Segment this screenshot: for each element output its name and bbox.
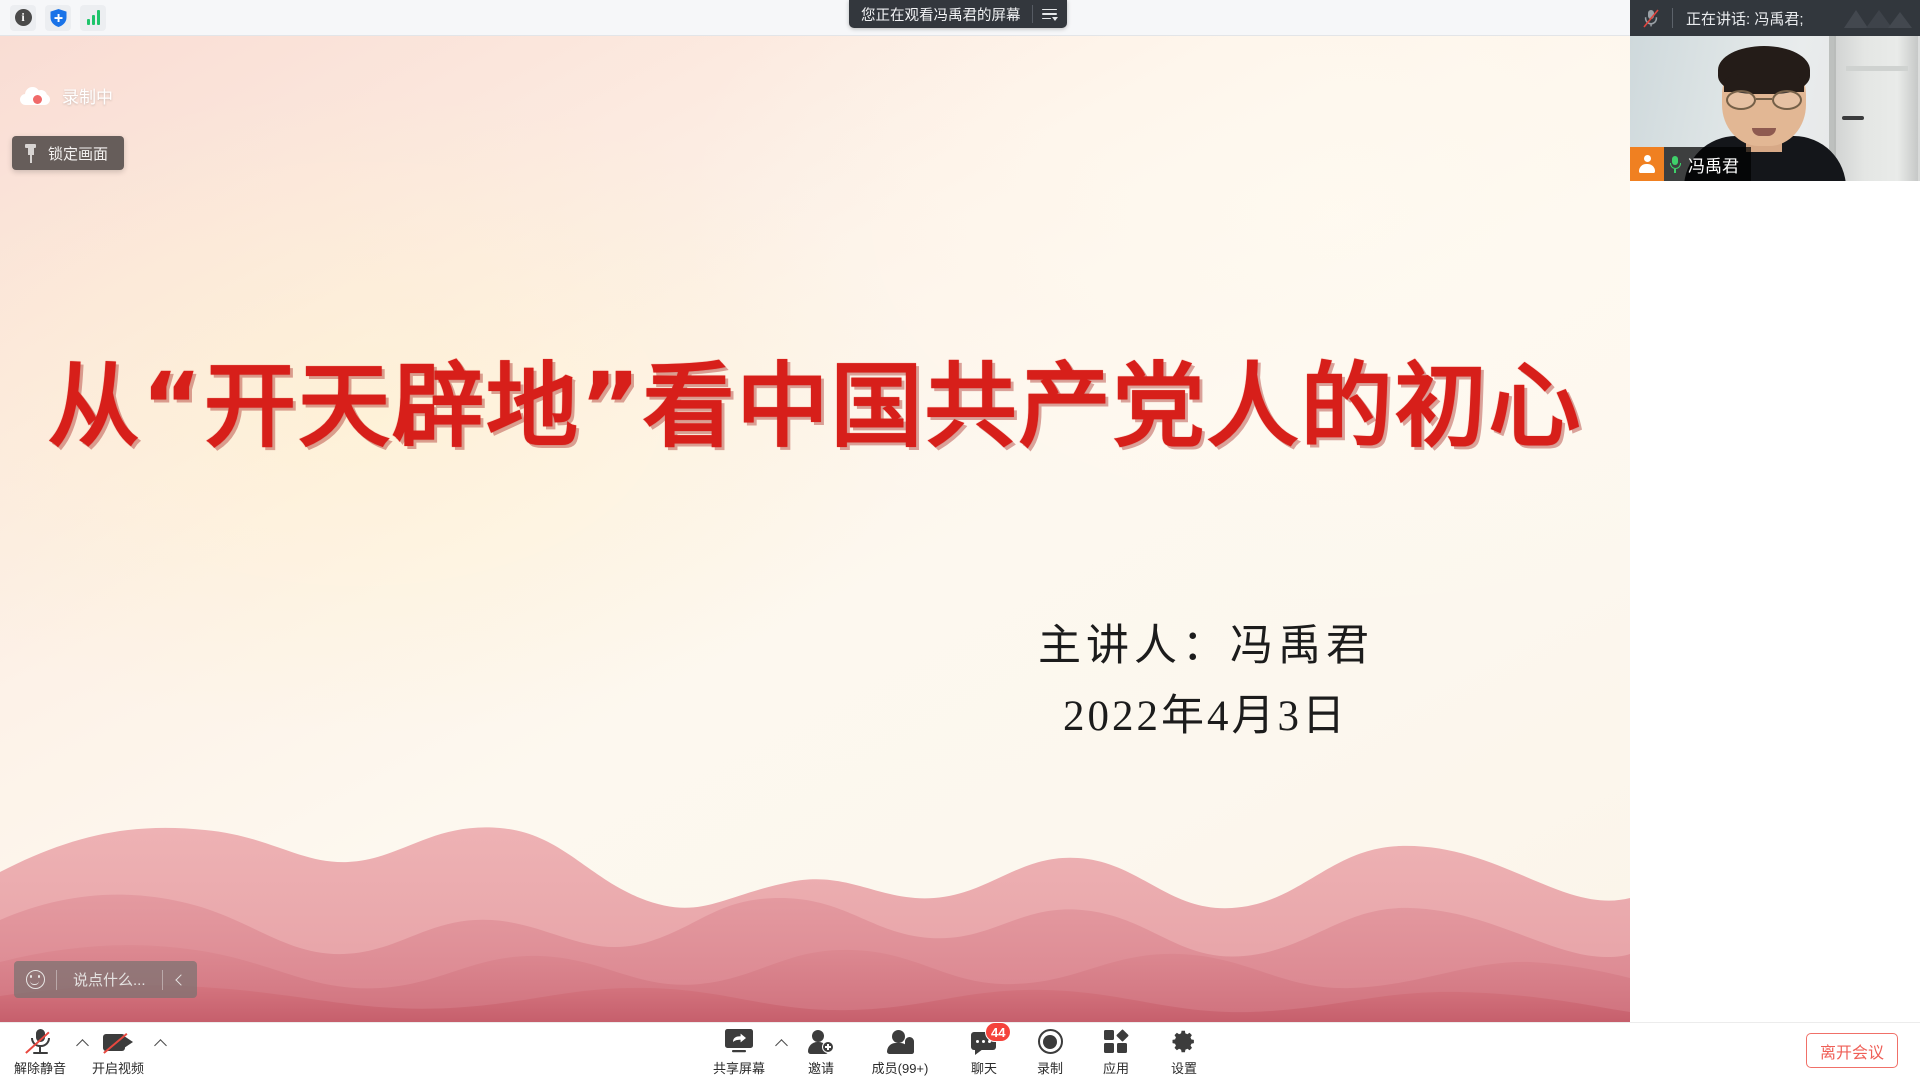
members-button[interactable]: 成员(99+) (855, 1028, 945, 1077)
right-panel-empty-area (1630, 181, 1920, 1022)
members-label: 成员(99+) (872, 1058, 929, 1077)
door (1834, 36, 1918, 181)
apps-grid-icon (1104, 1028, 1128, 1054)
lock-screen-button[interactable]: 锁定画面 (12, 136, 124, 170)
start-video-button[interactable]: 开启视频 (82, 1028, 154, 1077)
slide-date: 2022年4月3日 (1063, 681, 1348, 743)
people-icon (887, 1028, 913, 1054)
person-add-icon (808, 1028, 834, 1054)
settings-button[interactable]: 设置 (1148, 1028, 1220, 1077)
mic-muted-icon (1630, 9, 1672, 28)
glasses (1726, 90, 1802, 110)
active-speaker-text: 正在讲话: 冯禹君; (1686, 8, 1804, 29)
signal-bars-icon[interactable] (80, 5, 106, 31)
cloud-recording-icon (20, 87, 50, 105)
apps-label: 应用 (1103, 1058, 1129, 1077)
speaker-bar-divider (1672, 8, 1673, 28)
slide-background-art (0, 36, 1630, 1022)
shared-screen-stage[interactable]: 从“开天辟地”看中国共产党人的初心 主讲人：冯禹君 2022年4月3日 录制中 … (0, 36, 1630, 1022)
emoji-icon[interactable] (14, 961, 56, 998)
video-options-caret-icon[interactable] (154, 1039, 167, 1052)
recording-label: 录制中 (62, 83, 113, 108)
screen-share-banner-text: 您正在观看冯禹君的屏幕 (861, 4, 1021, 25)
pin-icon (24, 144, 37, 163)
record-circle-icon (1038, 1028, 1063, 1054)
share-screen-icon (725, 1028, 753, 1054)
share-screen-button[interactable]: 共享屏幕 (703, 1028, 775, 1077)
mic-active-icon (1664, 156, 1686, 173)
chat-label: 聊天 (971, 1058, 997, 1077)
person-avatar-icon (1630, 147, 1664, 181)
wave-decoration (1842, 6, 1912, 32)
apps-button[interactable]: 应用 (1080, 1028, 1152, 1077)
lock-screen-label: 锁定画面 (48, 143, 108, 164)
chat-unread-badge: 44 (985, 1022, 1011, 1042)
slide-presenter: 主讲人：冯禹君 (1038, 611, 1374, 673)
self-video-panel: 正在讲话: 冯禹君; (1630, 0, 1920, 1022)
share-screen-label: 共享屏幕 (713, 1058, 765, 1077)
leave-meeting-label: 离开会议 (1820, 1039, 1884, 1063)
record-label: 录制 (1037, 1058, 1063, 1077)
meeting-toolbar: 解除静音 开启视频 (0, 1022, 1920, 1080)
participant-hair (1718, 46, 1810, 94)
meeting-window: i 您正在观看冯禹君的屏幕 (0, 0, 1920, 1080)
chat-input-placeholder[interactable]: 说点什么... (57, 969, 162, 990)
inline-chat-bar[interactable]: 说点什么... (14, 961, 197, 998)
chat-bubble-icon: 44 (971, 1028, 997, 1054)
chevron-left-icon[interactable] (163, 961, 197, 998)
self-video-tile[interactable]: 冯禹君 (1630, 36, 1920, 181)
settings-label: 设置 (1171, 1058, 1197, 1077)
record-button[interactable]: 录制 (1014, 1028, 1086, 1077)
unmute-button[interactable]: 解除静音 (4, 1028, 76, 1077)
participant-name-tag: 冯禹君 (1630, 147, 1751, 181)
shield-plus-icon[interactable] (45, 5, 71, 31)
unmute-label: 解除静音 (14, 1058, 66, 1077)
leave-meeting-button[interactable]: 离开会议 (1806, 1033, 1898, 1068)
door-handle (1842, 116, 1864, 120)
chat-button[interactable]: 44 聊天 (948, 1028, 1020, 1077)
active-speaker-bar: 正在讲话: 冯禹君; (1630, 0, 1920, 36)
info-icon[interactable]: i (10, 5, 36, 31)
browser-icon-group: i (0, 5, 106, 31)
slide-title: 从“开天辟地”看中国共产党人的初心 (0, 332, 1630, 465)
start-video-label: 开启视频 (92, 1058, 144, 1077)
camera-off-icon (103, 1028, 133, 1054)
list-menu-icon[interactable] (1033, 0, 1067, 28)
recording-indicator: 录制中 (20, 83, 113, 108)
gear-icon (1172, 1028, 1197, 1054)
invite-button[interactable]: 邀请 (785, 1028, 857, 1077)
mic-muted-icon (28, 1028, 52, 1054)
screen-share-banner: 您正在观看冯禹君的屏幕 (849, 0, 1067, 28)
participant-name: 冯禹君 (1686, 152, 1751, 177)
invite-label: 邀请 (808, 1058, 834, 1077)
